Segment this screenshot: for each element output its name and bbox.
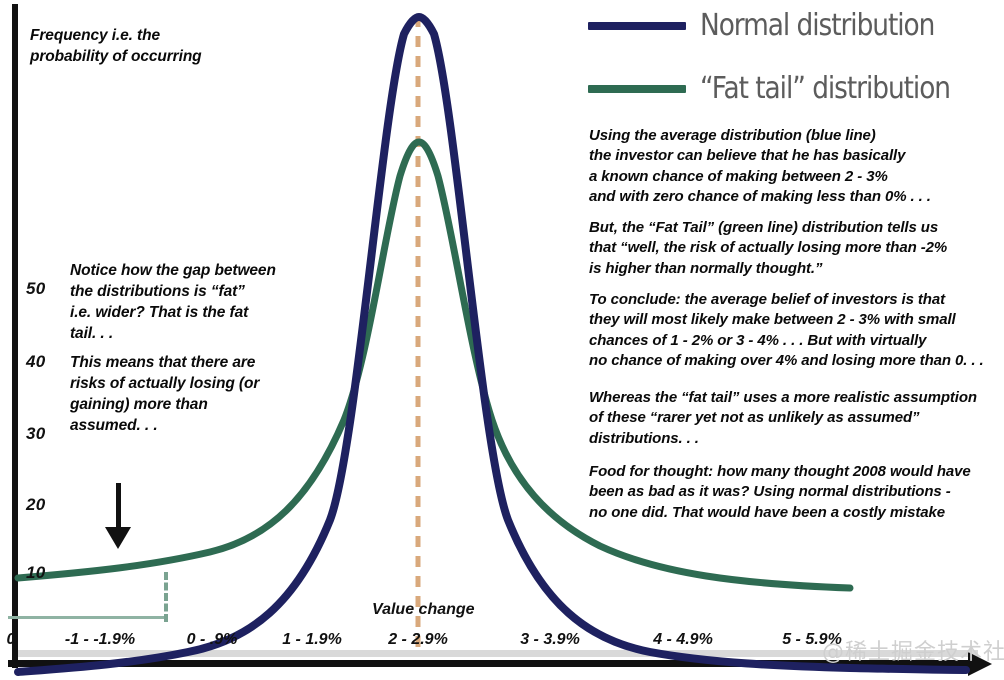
gap-measure-dashed — [164, 572, 168, 622]
x-tick-3-39: 3 - 3.9% — [490, 631, 610, 649]
annotation-food-for-thought: Food for thought: how many thought 2008 … — [589, 462, 1001, 523]
legend-item-normal[interactable]: Normal distribution — [588, 8, 984, 43]
y-tick-40: 40 — [26, 352, 46, 372]
y-axis-line — [12, 4, 18, 668]
y-tick-10: 10 — [26, 563, 46, 583]
y-tick-20: 20 — [26, 495, 46, 515]
legend-swatch-fat-tail-icon — [588, 85, 686, 93]
x-tick-neg1: -1 - -1.9% — [30, 631, 170, 649]
annotation-realistic-assumption: Whereas the “fat tail” uses a more reali… — [589, 388, 1001, 449]
y-axis-title: Frequency i.e. the probability of occurr… — [30, 26, 280, 68]
x-tick-2-29: 2 - 2.9% — [358, 631, 478, 649]
annotation-left-risks: This means that there are risks of actua… — [70, 352, 300, 436]
down-arrow-icon — [105, 527, 131, 549]
x-axis-title: Value change — [372, 601, 475, 619]
x-tick-0: 0 — [0, 631, 22, 649]
annotation-left-gap: Notice how the gap between the distribut… — [70, 260, 300, 344]
watermark-text: @稀土掘金技术社区 — [822, 634, 1004, 666]
legend-swatch-normal-icon — [588, 22, 686, 30]
legend-label-fat-tail: “Fat tail” distribution — [700, 71, 950, 106]
y-tick-50: 50 — [26, 279, 46, 299]
chart-legend: Normal distribution “Fat tail” distribut… — [588, 8, 984, 106]
y-tick-30: 30 — [26, 424, 46, 444]
down-arrow-shaft — [116, 483, 121, 531]
annotation-average-distribution: Using the average distribution (blue lin… — [589, 126, 1001, 208]
x-tick-4-49: 4 - 4.9% — [623, 631, 743, 649]
legend-label-normal: Normal distribution — [700, 8, 934, 43]
x-tick-1-19: 1 - 1.9% — [252, 631, 372, 649]
annotation-fat-tail-risk: But, the “Fat Tail” (green line) distrib… — [589, 218, 1001, 279]
chart-canvas: Frequency i.e. the probability of occurr… — [0, 0, 1004, 680]
annotation-conclusion: To conclude: the average belief of inves… — [589, 290, 1001, 372]
legend-item-fat-tail[interactable]: “Fat tail” distribution — [588, 71, 984, 106]
gap-measure-line — [8, 616, 168, 619]
